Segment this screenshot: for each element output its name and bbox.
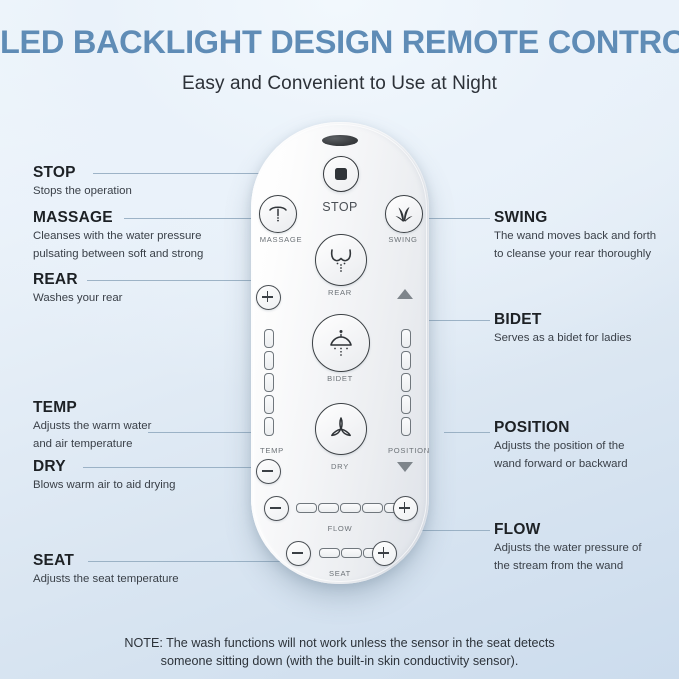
page-subtitle: Easy and Convenient to Use at Night [0, 73, 679, 95]
temp-level-indicator [264, 395, 274, 414]
position-forward-button[interactable] [397, 289, 413, 299]
rear-button-label: REAR [310, 288, 370, 297]
leader-line-temp [148, 432, 252, 433]
seat-increase-button[interactable] [372, 541, 397, 566]
callout-bidet-line1: Serves as a bidet for ladies [494, 330, 631, 347]
callout-massage-line2: pulsating between soft and strong [33, 246, 203, 263]
position-level-indicator [401, 373, 411, 392]
callout-seat-line1: Adjusts the seat temperature [33, 571, 179, 588]
massage-button[interactable] [259, 195, 297, 233]
leader-line-massage [124, 218, 258, 219]
footer-note-line2: someone sitting down (with the built-in … [0, 652, 679, 670]
callout-flow-line2: the stream from the wand [494, 558, 642, 575]
bidet-spray-icon [324, 326, 358, 360]
infrared-emitter-icon [322, 135, 358, 146]
stop-square-icon [335, 168, 347, 180]
swing-spray-icon [393, 203, 415, 225]
seat-level-indicator [341, 548, 362, 558]
callout-bidet: BIDET Serves as a bidet for ladies [494, 310, 631, 347]
callout-temp-line1: Adjusts the warm water [33, 418, 151, 435]
temp-level-indicator [264, 329, 274, 348]
seat-level-indicator [319, 548, 340, 558]
position-level-indicator [401, 395, 411, 414]
leader-line-swing [419, 218, 490, 219]
stop-button-label: STOP [300, 200, 380, 214]
dry-button[interactable] [315, 403, 367, 455]
callout-position-title: POSITION [494, 418, 628, 437]
callout-position-line1: Adjusts the position of the [494, 438, 628, 455]
callout-temp: TEMP Adjusts the warm water and air temp… [33, 398, 151, 452]
callout-dry-line1: Blows warm air to aid drying [33, 477, 175, 494]
temp-decrease-button[interactable] [256, 459, 281, 484]
position-level-indicator [401, 417, 411, 436]
bidet-button[interactable] [312, 314, 370, 372]
callout-rear: REAR Washes your rear [33, 270, 122, 307]
swing-button-label: SWING [373, 235, 433, 244]
bidet-button-label: BIDET [310, 374, 370, 383]
seat-decrease-button[interactable] [286, 541, 311, 566]
footer-note: NOTE: The wash functions will not work u… [0, 634, 679, 670]
callout-temp-title: TEMP [33, 398, 151, 417]
callout-stop: STOP Stops the operation [33, 163, 132, 200]
callout-bidet-title: BIDET [494, 310, 631, 329]
flow-increase-button[interactable] [393, 496, 418, 521]
callout-position: POSITION Adjusts the position of the wan… [494, 418, 628, 472]
page-title: LED BACKLIGHT DESIGN REMOTE CONTROL [0, 24, 679, 61]
rear-button[interactable] [315, 234, 367, 286]
temp-level-indicator [264, 373, 274, 392]
callout-flow: FLOW Adjusts the water pressure of the s… [494, 520, 642, 574]
leader-line-position [444, 432, 490, 433]
flow-level-indicator [362, 503, 383, 513]
callout-flow-line1: Adjusts the water pressure of [494, 540, 642, 557]
infographic-canvas: LED BACKLIGHT DESIGN REMOTE CONTROL Easy… [0, 0, 679, 679]
callout-swing: SWING The wand moves back and forth to c… [494, 208, 656, 262]
flow-level-indicator [318, 503, 339, 513]
callout-swing-line2: to cleanse your rear thoroughly [494, 246, 656, 263]
remote-control-body: STOP MASSAGE SWING [251, 122, 429, 584]
stop-button[interactable] [323, 156, 359, 192]
position-backward-button[interactable] [397, 462, 413, 472]
callout-dry: DRY Blows warm air to aid drying [33, 457, 175, 494]
swing-button[interactable] [385, 195, 423, 233]
flow-level-indicator [296, 503, 317, 513]
position-level-indicator [401, 351, 411, 370]
flow-level-indicator [340, 503, 361, 513]
callout-seat: SEAT Adjusts the seat temperature [33, 551, 179, 588]
seat-label: SEAT [310, 569, 370, 578]
callout-stop-line1: Stops the operation [33, 183, 132, 200]
dry-button-label: DRY [310, 462, 370, 471]
callout-position-line2: wand forward or backward [494, 456, 628, 473]
massage-nozzle-icon [267, 203, 289, 225]
flow-decrease-button[interactable] [264, 496, 289, 521]
callout-flow-title: FLOW [494, 520, 642, 539]
callout-swing-title: SWING [494, 208, 656, 227]
flow-label: FLOW [310, 524, 370, 533]
callout-swing-line1: The wand moves back and forth [494, 228, 656, 245]
temp-level-indicator [264, 417, 274, 436]
temp-label: TEMP [248, 446, 296, 455]
massage-button-label: MASSAGE [251, 235, 311, 244]
rear-wash-icon [325, 244, 357, 276]
temp-increase-button[interactable] [256, 285, 281, 310]
position-level-indicator [401, 329, 411, 348]
dry-fan-icon [325, 413, 357, 445]
footer-note-line1: NOTE: The wash functions will not work u… [0, 634, 679, 652]
position-label: POSITION [378, 446, 440, 455]
callout-rear-line1: Washes your rear [33, 290, 122, 307]
callout-massage-line1: Cleanses with the water pressure [33, 228, 203, 245]
callout-massage: MASSAGE Cleanses with the water pressure… [33, 208, 203, 262]
temp-level-indicator [264, 351, 274, 370]
callout-temp-line2: and air temperature [33, 436, 151, 453]
